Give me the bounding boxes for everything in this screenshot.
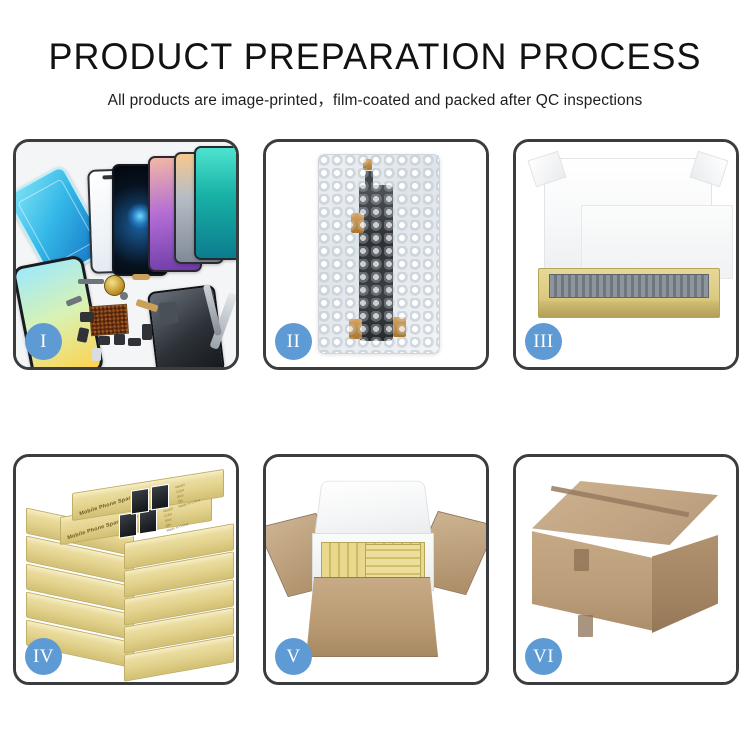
step-5-image: V <box>266 457 486 682</box>
product-thumbnail <box>131 488 149 515</box>
carton-body <box>306 577 438 657</box>
yellow-boxes-group <box>365 544 421 582</box>
page-header: PRODUCT PREPARATION PROCESS All products… <box>0 0 750 110</box>
carton-tape-upper <box>574 549 589 571</box>
step-3-image: III <box>516 142 736 367</box>
small-part <box>80 312 94 322</box>
process-step-1[interactable]: I <box>13 139 239 370</box>
page-subtitle: All products are image-printed，film-coat… <box>0 88 750 110</box>
wrapped-phone-part <box>359 185 393 341</box>
phone-display-teal <box>194 146 236 260</box>
bubble-wrap-bag <box>318 154 440 354</box>
product-thumbnail <box>119 512 137 539</box>
step-badge-5: V <box>275 638 312 675</box>
step-badge-1: I <box>25 323 62 360</box>
step-badge-4: IV <box>25 638 62 675</box>
white-box-lid <box>544 158 712 276</box>
styrofoam-lid <box>314 481 432 540</box>
small-part <box>120 292 128 300</box>
flex-connector-tab <box>393 317 406 337</box>
step-6-image: VI <box>516 457 736 682</box>
kraft-inner-box <box>538 268 720 318</box>
carton-front-face <box>532 527 654 631</box>
carton-tape-lower <box>578 615 593 637</box>
step-2-image: II <box>266 142 486 367</box>
step-badge-3: III <box>525 323 562 360</box>
flex-connector-tab <box>349 319 362 339</box>
step-1-image: I <box>16 142 236 367</box>
box-shading <box>539 301 719 317</box>
small-part <box>142 324 152 340</box>
small-part <box>128 338 141 346</box>
process-step-3[interactable]: III <box>513 139 739 370</box>
bubble-wrapped-contents <box>549 274 709 298</box>
step-badge-6: VI <box>525 638 562 675</box>
small-part <box>114 334 125 345</box>
small-part <box>98 336 110 345</box>
process-step-6[interactable]: VI <box>513 454 739 685</box>
small-part <box>132 274 150 280</box>
small-part <box>78 279 104 284</box>
page-title: PRODUCT PREPARATION PROCESS <box>11 38 739 77</box>
process-step-4[interactable]: Mobile Phone Spare Parts Model Color Siz… <box>13 454 239 685</box>
flex-connector-tab <box>351 213 364 233</box>
small-part <box>92 348 101 361</box>
carton-side-face <box>652 535 718 633</box>
step-4-image: Mobile Phone Spare Parts Model Color Siz… <box>16 457 236 682</box>
step-badge-2: II <box>275 323 312 360</box>
product-thumbnail <box>151 484 169 511</box>
process-step-grid: I II III <box>13 139 739 685</box>
process-step-2[interactable]: II <box>263 139 489 370</box>
chip-component <box>89 304 129 337</box>
process-step-5[interactable]: V <box>263 454 489 685</box>
flex-connector-tab <box>363 159 372 170</box>
